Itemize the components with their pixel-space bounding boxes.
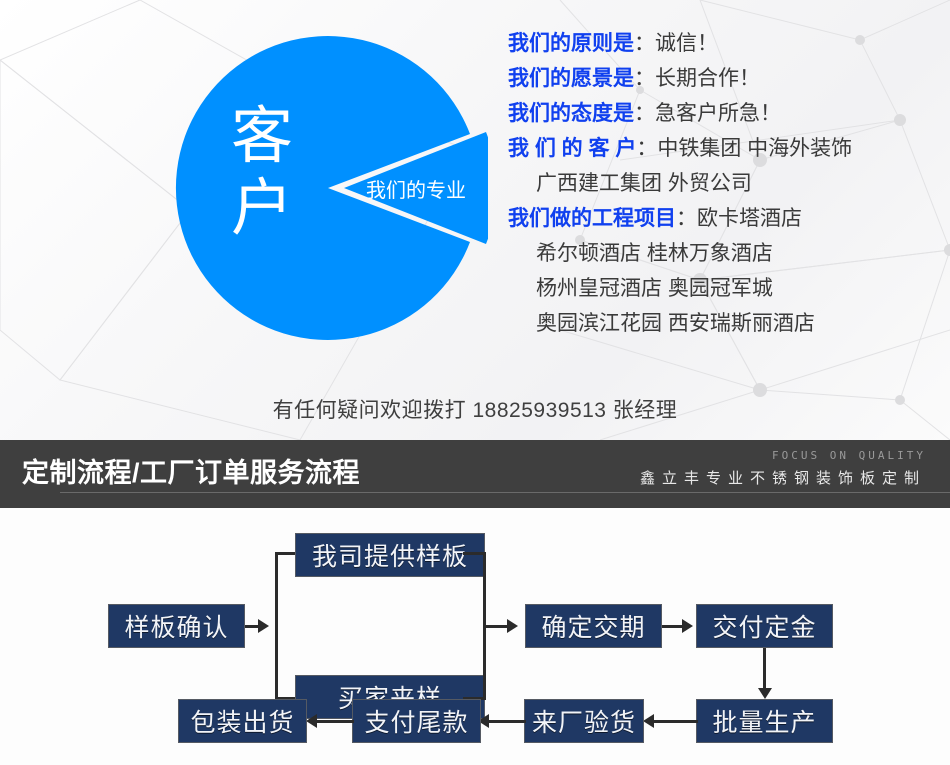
info-sep: ： — [634, 67, 655, 90]
flow-node-factory-inspection[interactable]: 来厂验货 — [524, 699, 644, 743]
info-line-principle: 我们的原则是：诚信！ — [508, 26, 938, 61]
promo-page: 客 户 我们的专业 我们的原则是：诚信！ 我们的愿景是：长期合作！ 我们的态度是… — [0, 0, 950, 765]
connector-deposit-to-production-vert — [763, 648, 766, 691]
flow-node-confirm-date[interactable]: 确定交期 — [525, 604, 662, 648]
info-value: 欧卡塔酒店 — [697, 207, 802, 230]
connector-inspection-to-balance — [489, 720, 526, 723]
info-line-attitude: 我们的态度是：急客户所急！ — [508, 96, 938, 131]
connector-balance-to-shipping — [317, 720, 354, 723]
pie-wedge-label: 我们的专业 — [366, 179, 466, 202]
flow-node-pay-deposit[interactable]: 交付定金 — [696, 604, 833, 648]
flow-node-mass-production[interactable]: 批量生产 — [696, 699, 833, 743]
info-line-projects-4: 奥园滨江花园 西安瑞斯丽酒店 — [508, 306, 938, 341]
flow-node-we-provide-sample[interactable]: 我司提供样板 — [295, 533, 485, 577]
info-line-clients-cont: 广西建工集团 外贸公司 — [508, 166, 938, 201]
arrow-balance-to-shipping — [306, 714, 317, 728]
connector-group-to-confirm-date — [483, 625, 509, 628]
pie-center-label: 客 — [231, 102, 293, 171]
connector-sample-confirm-out — [245, 625, 260, 628]
connector-bracket-right-top-stub — [463, 552, 485, 555]
connector-bracket-left-vert — [275, 552, 278, 700]
info-value: 奥园滨江花园 西安瑞斯丽酒店 — [536, 312, 815, 335]
info-value: 长期合作！ — [655, 67, 760, 90]
info-sep: ： — [634, 102, 655, 125]
flow-node-pack-ship[interactable]: 包装出货 — [178, 699, 307, 743]
banner-divider — [60, 492, 950, 493]
connector-bracket-left-top-stub — [275, 552, 297, 555]
info-label: 我们做的工程项目 — [508, 207, 676, 230]
info-line-projects: 我们做的工程项目：欧卡塔酒店 — [508, 201, 938, 236]
info-label: 我们的愿景是 — [508, 67, 634, 90]
info-label: 我们的原则是 — [508, 32, 634, 55]
info-value: 杨州皇冠酒店 奥园冠军城 — [536, 277, 773, 300]
flow-node-pay-balance[interactable]: 支付尾款 — [352, 699, 481, 743]
section-banner: 定制流程/工厂订单服务流程 FOCUS ON QUALITY 鑫立丰专业不锈钢装… — [0, 440, 950, 508]
company-info-list: 我们的原则是：诚信！ 我们的愿景是：长期合作！ 我们的态度是：急客户所急！ 我 … — [508, 26, 938, 341]
info-value: 希尔顿酒店 桂林万象酒店 — [536, 242, 773, 265]
info-label: 我 们 的 客 户 — [508, 137, 636, 160]
pie-center-label-2: 户 — [231, 174, 293, 243]
info-line-projects-3: 杨州皇冠酒店 奥园冠军城 — [508, 271, 938, 306]
contact-line: 有任何疑问欢迎拨打 18825939513 张经理 — [0, 394, 950, 424]
banner-chinese-tagline: 鑫立丰专业不锈钢装饰板定制 — [640, 467, 926, 488]
info-sep: ： — [676, 207, 697, 230]
banner-title: 定制流程/工厂订单服务流程 — [22, 451, 360, 490]
arrow-confirm-date-to-deposit — [682, 619, 693, 633]
info-sep: ： — [634, 32, 655, 55]
info-value: 诚信！ — [655, 32, 718, 55]
arrow-production-to-inspection — [643, 714, 654, 728]
order-process-flowchart: 样板确认 我司提供样板 买家来样 确定交期 交付定金 批量生产 来厂验货 支付尾… — [0, 508, 950, 765]
arrow-deposit-to-production — [758, 688, 772, 699]
connector-production-to-inspection — [654, 720, 698, 723]
banner-english-tagline: FOCUS ON QUALITY — [772, 449, 926, 462]
info-value: 广西建工集团 外贸公司 — [536, 172, 752, 195]
arrow-group-to-confirm-date — [507, 619, 518, 633]
info-label: 我们的态度是 — [508, 102, 634, 125]
info-sep: ： — [636, 137, 657, 160]
customer-pie-graphic: 客 户 我们的专业 — [168, 33, 488, 343]
info-value: 中铁集团 中海外装饰 — [657, 137, 852, 160]
info-line-clients: 我 们 的 客 户：中铁集团 中海外装饰 — [508, 131, 938, 166]
connector-confirm-date-to-deposit — [662, 625, 684, 628]
hero-section: 客 户 我们的专业 我们的原则是：诚信！ 我们的愿景是：长期合作！ 我们的态度是… — [0, 0, 950, 440]
info-line-projects-2: 希尔顿酒店 桂林万象酒店 — [508, 236, 938, 271]
flow-node-sample-confirm[interactable]: 样板确认 — [108, 604, 245, 648]
info-line-vision: 我们的愿景是：长期合作！ — [508, 61, 938, 96]
info-value: 急客户所急！ — [655, 102, 781, 125]
